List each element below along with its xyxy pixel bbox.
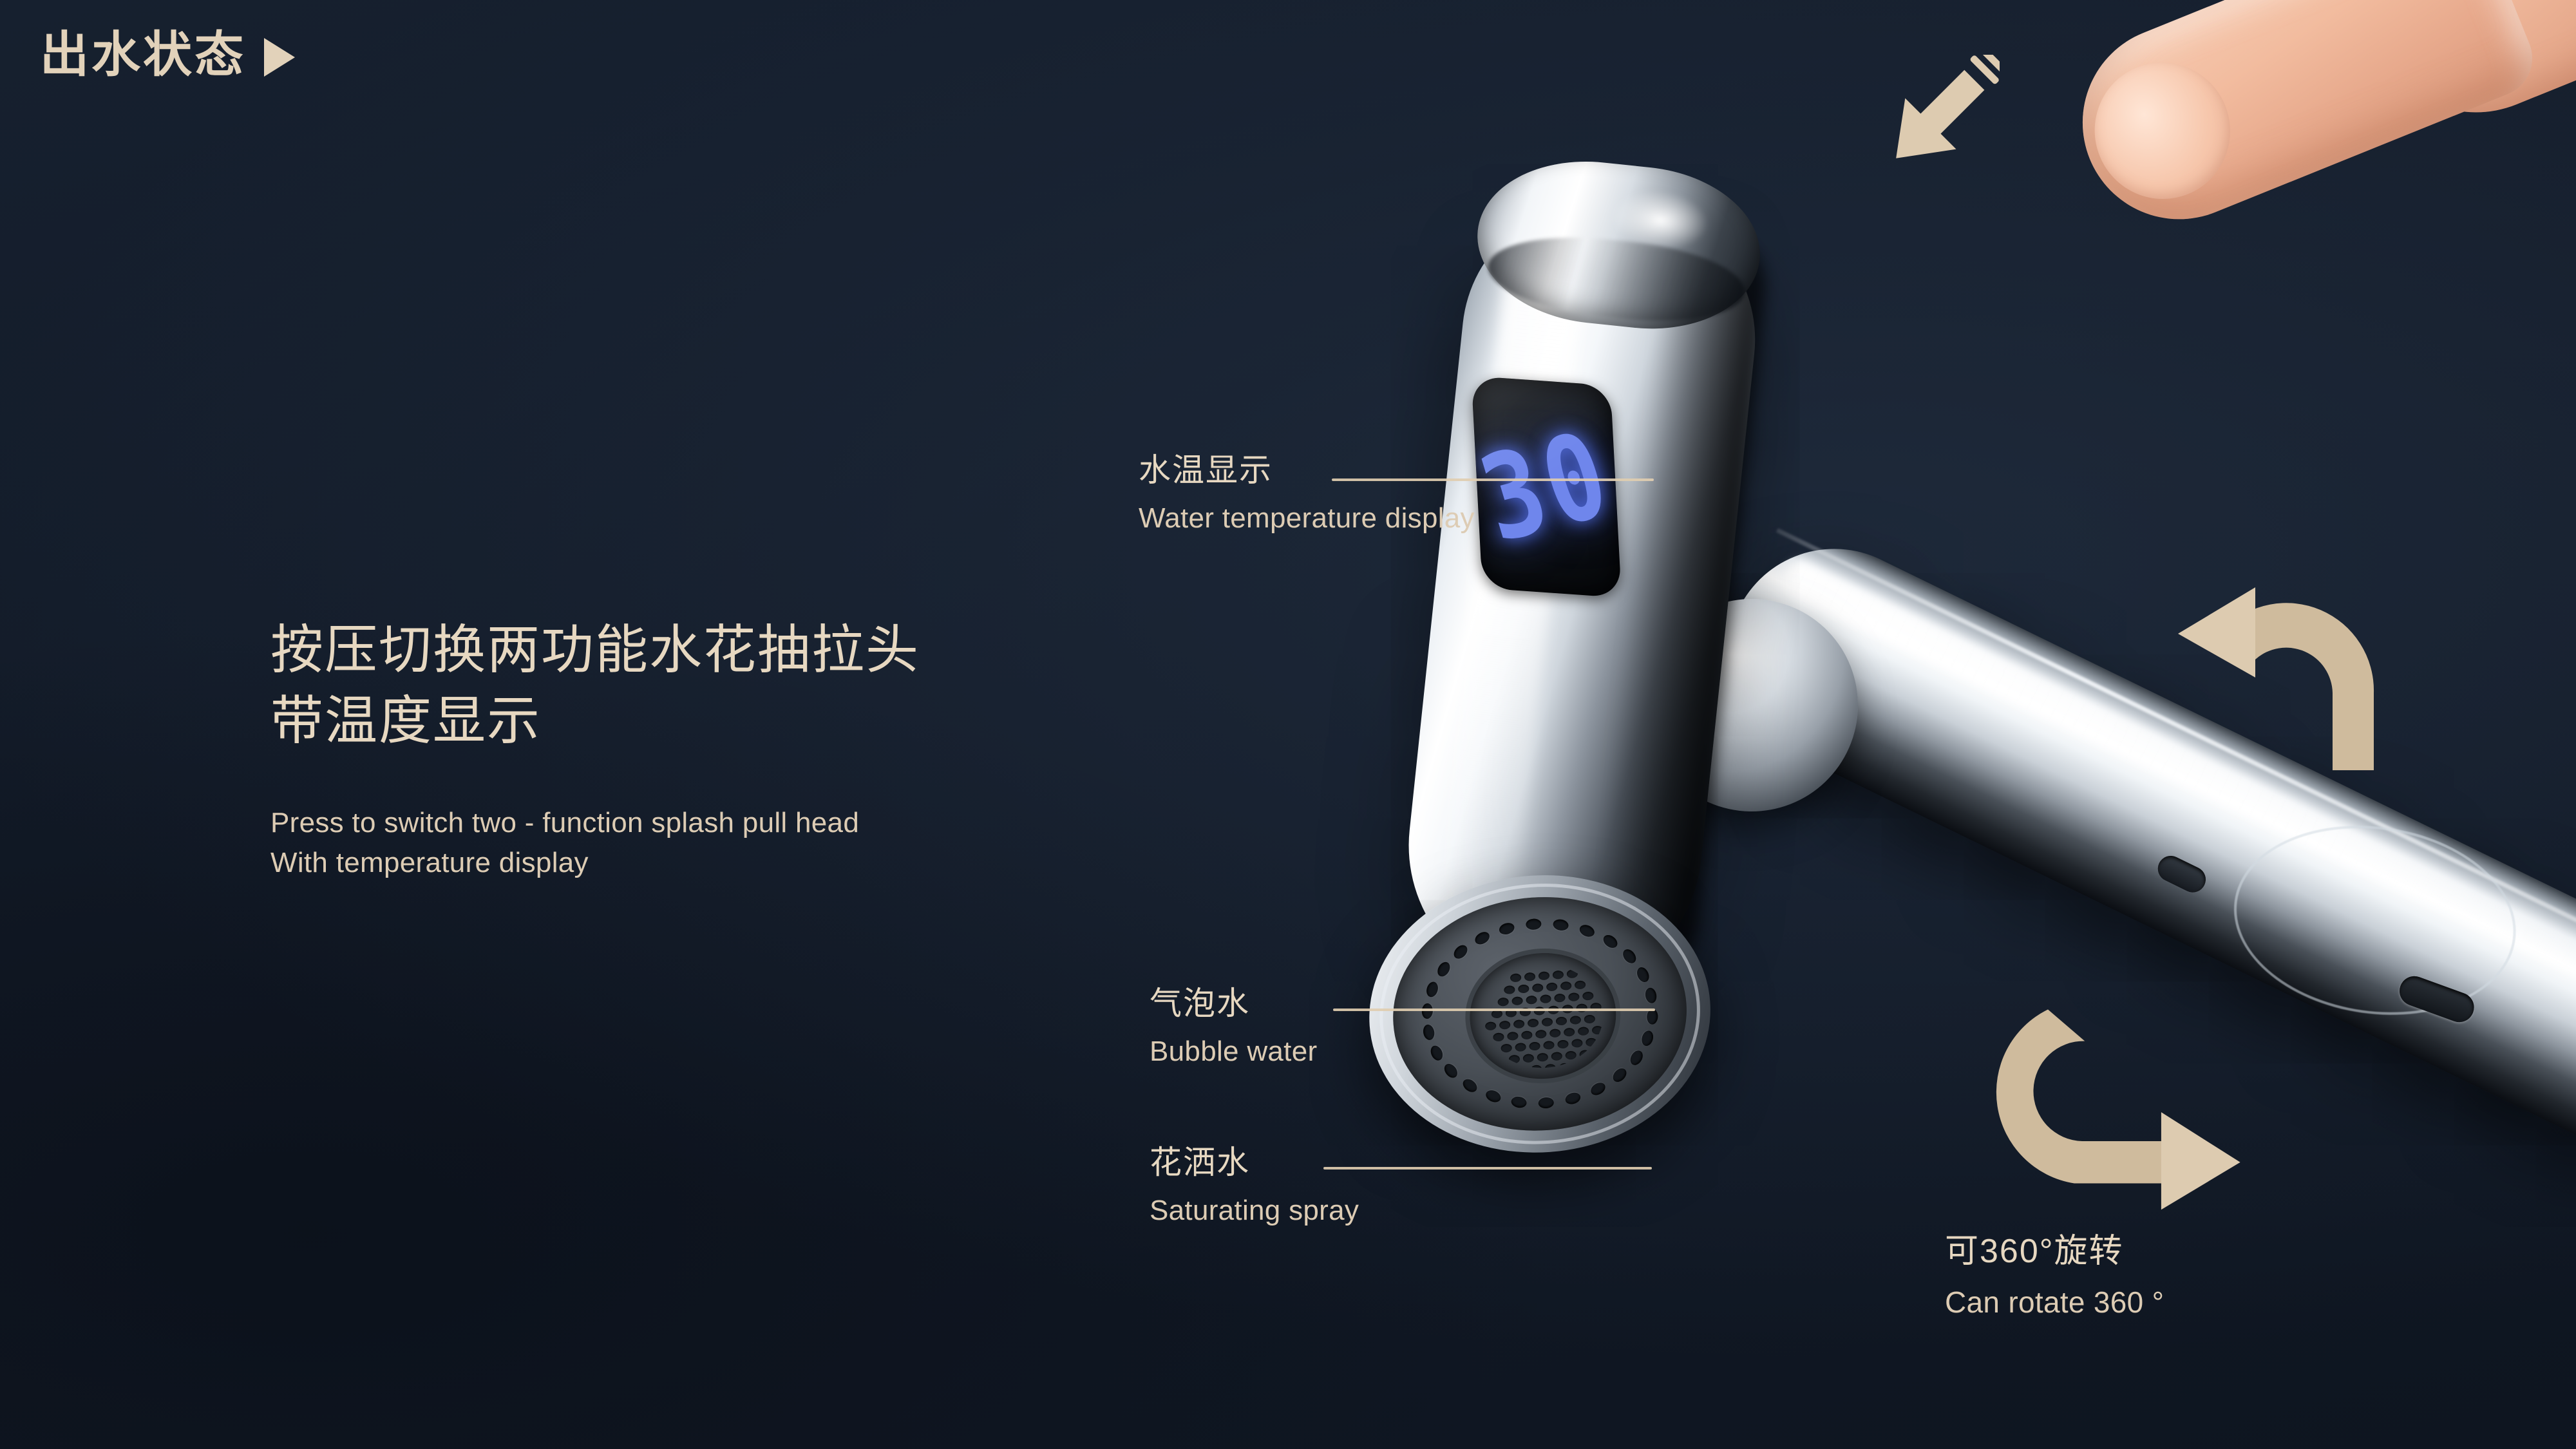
rotation-label: 可360°旋转 Can rotate 360 ° — [1945, 1224, 2164, 1320]
press-down-arrow-icon — [1871, 55, 2000, 184]
callout-bubble-water-cn: 气泡水 — [1150, 984, 1317, 1023]
callout-bubble-water-en: Bubble water — [1150, 1034, 1317, 1069]
leader-line-bubble-water — [1333, 1009, 1655, 1011]
feature-headline-cn: 按压切换两功能水花抽拉头 带温度显示 — [270, 615, 1121, 757]
callout-water-temperature-en: Water temperature display — [1139, 500, 1475, 536]
temperature-display-panel: 30 — [1472, 376, 1622, 598]
rotation-label-en: Can rotate 360 ° — [1945, 1285, 2164, 1320]
page-title: 出水状态 — [40, 31, 246, 80]
rotation-label-cn: 可360°旋转 — [1945, 1224, 2164, 1272]
callout-saturating-spray-cn: 花洒水 — [1150, 1143, 1359, 1182]
section-header: 出水状态 — [40, 31, 295, 80]
callout-bubble-water: 气泡水 Bubble water — [1150, 984, 1317, 1069]
rotate-clockwise-arrow-icon — [1990, 985, 2280, 1236]
leader-line-saturating-spray — [1323, 1167, 1652, 1170]
rotate-counterclockwise-arrow-icon — [2145, 554, 2415, 811]
callout-water-temperature-cn: 水温显示 — [1139, 451, 1475, 490]
play-triangle-icon — [264, 38, 295, 77]
leader-line-water-temperature — [1332, 478, 1654, 481]
callout-saturating-spray-en: Saturating spray — [1150, 1193, 1359, 1228]
callout-saturating-spray: 花洒水 Saturating spray — [1150, 1143, 1359, 1228]
product-feature-slide: 出水状态 30 — [0, 0, 2576, 1449]
led-glass-sheen — [1472, 376, 1622, 598]
spray-face — [1360, 864, 1720, 1164]
feature-headline-en: Press to switch two - function splash pu… — [270, 803, 1121, 884]
callout-water-temperature: 水温显示 Water temperature display — [1139, 451, 1475, 536]
feature-description: 按压切换两功能水花抽拉头 带温度显示 Press to switch two -… — [270, 615, 1121, 884]
